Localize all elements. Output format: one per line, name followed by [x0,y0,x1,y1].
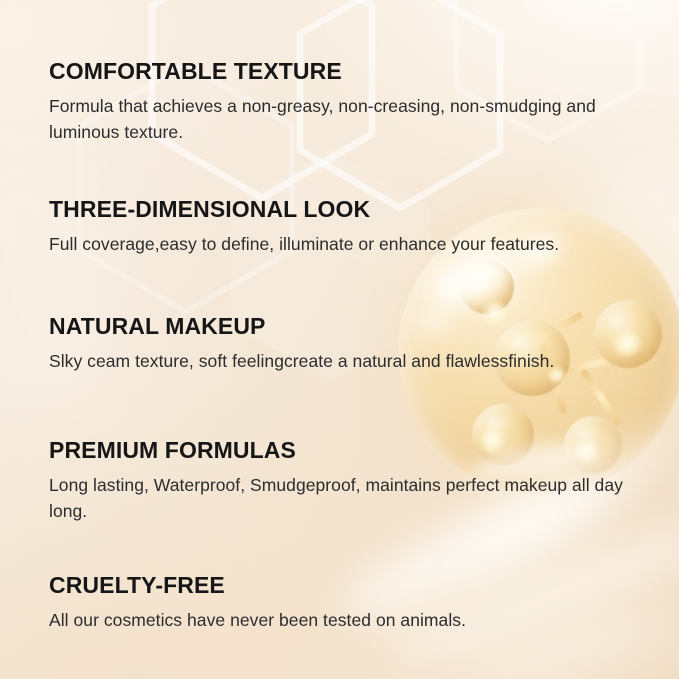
feature-body: Full coverage,easy to define, illuminate… [49,231,649,257]
feature-item-three-dimensional-look: THREE-DIMENSIONAL LOOK Full coverage,eas… [49,196,649,257]
feature-heading: COMFORTABLE TEXTURE [49,58,649,84]
feature-heading: PREMIUM FORMULAS [49,437,649,463]
feature-heading: CRUELTY-FREE [49,572,649,598]
feature-item-premium-formulas: PREMIUM FORMULAS Long lasting, Waterproo… [49,437,649,524]
feature-list: COMFORTABLE TEXTURE Formula that achieve… [0,0,679,679]
feature-body: Long lasting, Waterproof, Smudgeproof, m… [49,472,649,524]
feature-item-cruelty-free: CRUELTY-FREE All our cosmetics have neve… [49,572,649,633]
feature-body: Slky ceam texture, soft feelingcreate a … [49,348,649,374]
feature-body: All our cosmetics have never been tested… [49,607,649,633]
product-feature-banner: COMFORTABLE TEXTURE Formula that achieve… [0,0,679,679]
feature-body: Formula that achieves a non-greasy, non-… [49,93,649,145]
feature-heading: THREE-DIMENSIONAL LOOK [49,196,649,222]
feature-heading: NATURAL MAKEUP [49,313,649,339]
feature-item-natural-makeup: NATURAL MAKEUP Slky ceam texture, soft f… [49,313,649,374]
feature-item-comfortable-texture: COMFORTABLE TEXTURE Formula that achieve… [49,58,649,145]
